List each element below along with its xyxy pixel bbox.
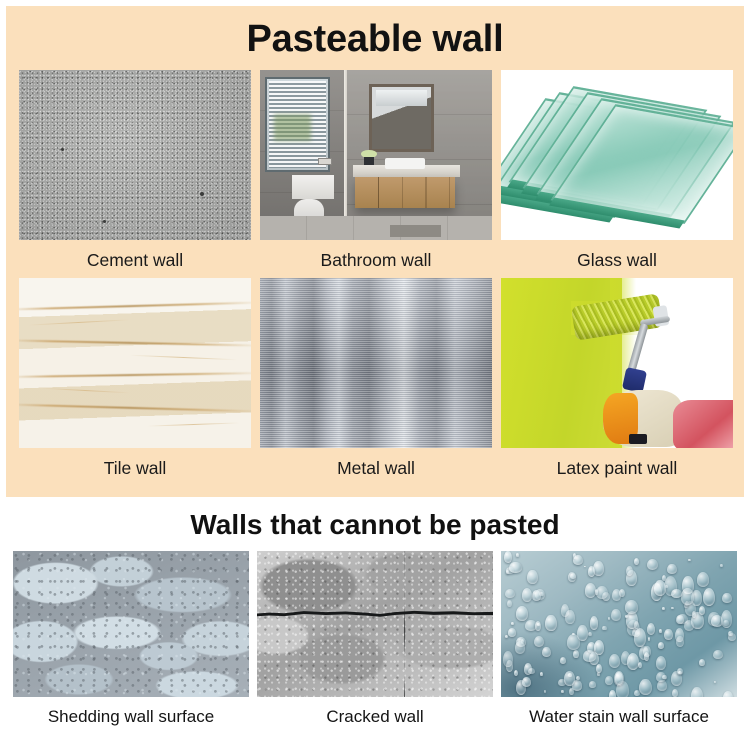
water-droplet-icon xyxy=(588,632,592,636)
water-stain-wall-label: Water stain wall surface xyxy=(529,697,709,725)
water-droplet-icon xyxy=(609,654,620,668)
not-pasteable-row: Shedding wall surface Cracked wall Water… xyxy=(13,551,737,725)
pasteable-item-tile-wall: Tile wall xyxy=(19,278,251,486)
marble-vein-small xyxy=(42,387,130,393)
product-infographic: Pasteable wall Cement wall xyxy=(0,0,750,750)
water-droplet-icon xyxy=(565,610,574,624)
water-droplet-icon xyxy=(625,600,638,613)
not-pasteable-section-title: Walls that cannot be pasted xyxy=(13,497,737,551)
water-droplet-icon xyxy=(676,636,683,647)
water-droplet-icon xyxy=(676,615,684,625)
water-droplet-icon xyxy=(662,675,667,680)
water-droplet-icon xyxy=(634,558,639,565)
water-droplet-icon xyxy=(611,609,620,621)
water-droplet-icon xyxy=(648,637,651,641)
water-droplet-icon xyxy=(511,622,514,625)
water-droplet-icon xyxy=(503,651,513,667)
water-droplet-icon xyxy=(671,589,682,598)
water-droplet-icon xyxy=(699,606,705,615)
bathroom-mat xyxy=(390,225,441,237)
water-droplet-icon xyxy=(697,572,710,587)
glass-wall-thumbnail xyxy=(501,70,733,240)
water-droplet-icon xyxy=(678,671,682,674)
bathroom-partition xyxy=(344,70,347,240)
water-droplet-icon xyxy=(602,626,607,631)
bathroom-wall-label: Bathroom wall xyxy=(321,240,432,278)
sleeve xyxy=(673,400,733,448)
water-droplet-icon xyxy=(504,551,512,563)
water-droplet-icon xyxy=(627,653,639,670)
water-droplet-icon xyxy=(634,628,646,647)
bathroom-sink-basin xyxy=(385,158,424,168)
pasteable-item-metal-wall: Metal wall xyxy=(260,278,492,486)
water-droplet-icon xyxy=(508,628,516,636)
cement-texture-image xyxy=(19,70,251,240)
water-droplet-icon xyxy=(590,616,599,630)
pasteable-item-bathroom-wall: Bathroom wall xyxy=(260,70,492,278)
water-droplet-icon xyxy=(505,635,508,638)
marble-vein-small xyxy=(28,319,130,325)
water-droplet-icon xyxy=(595,589,598,594)
plant-pot xyxy=(364,157,373,166)
water-droplet-icon xyxy=(514,670,518,676)
cement-fleck-icon xyxy=(103,220,106,223)
metal-wall-thumbnail xyxy=(260,278,492,448)
water-droplet-icon xyxy=(528,668,535,674)
water-droplet-icon xyxy=(654,580,666,596)
water-droplet-icon xyxy=(561,690,564,693)
water-droplet-icon xyxy=(720,564,723,567)
water-droplet-icon xyxy=(583,650,596,661)
tile-wall-thumbnail xyxy=(19,278,251,448)
water-droplet-icon xyxy=(516,606,528,620)
water-droplet-icon xyxy=(672,689,678,697)
toilet-tank xyxy=(292,175,334,199)
cracked-wall-label: Cracked wall xyxy=(326,697,423,725)
water-droplet-icon xyxy=(664,629,673,641)
water-droplet-icon xyxy=(615,672,623,685)
not-pasteable-item-shedding-wall: Shedding wall surface xyxy=(13,551,249,725)
light-switch-icon xyxy=(318,158,332,165)
water-droplet-icon xyxy=(596,586,608,599)
water-droplet-icon xyxy=(569,688,574,695)
cracked-wall-thumbnail xyxy=(257,551,493,697)
water-droplet-icon xyxy=(542,647,551,658)
bathroom-vanity-cabinet xyxy=(355,177,455,208)
water-droplet-icon xyxy=(532,590,542,601)
water-droplet-icon xyxy=(544,690,547,694)
water-droplet-icon xyxy=(722,593,731,603)
water-droplet-icon xyxy=(662,607,665,610)
water-droplet-icon xyxy=(589,681,596,688)
roller-label xyxy=(629,434,648,444)
water-stain-wall-thumbnail xyxy=(501,551,737,697)
water-droplet-icon xyxy=(505,589,515,598)
water-droplet-icon xyxy=(507,600,512,607)
shedding-wall-label: Shedding wall surface xyxy=(48,697,214,725)
pasteable-section-title: Pasteable wall xyxy=(19,6,731,70)
pasteable-item-glass-wall: Glass wall xyxy=(501,70,733,278)
bathroom-floor xyxy=(260,216,492,240)
pasteable-section: Pasteable wall Cement wall xyxy=(0,0,750,497)
pasteable-row-2: Tile wall Metal wall xyxy=(19,278,731,486)
latex-paint-wall-label: Latex paint wall xyxy=(557,448,678,486)
water-droplet-icon xyxy=(564,671,576,686)
water-droplet-icon xyxy=(612,589,621,601)
cement-fleck-icon xyxy=(61,148,64,151)
water-droplet-icon xyxy=(723,691,734,697)
cement-wall-label: Cement wall xyxy=(87,240,183,278)
water-droplet-icon xyxy=(699,659,705,666)
water-droplet-icon xyxy=(567,634,580,649)
marble-vein-small xyxy=(147,422,240,426)
water-droplet-icon xyxy=(688,559,690,562)
marble-vein xyxy=(19,403,251,412)
water-droplet-icon xyxy=(570,573,576,579)
water-droplet-icon xyxy=(576,676,580,680)
water-droplet-icon xyxy=(516,553,519,556)
bathroom-mirror xyxy=(369,84,434,152)
water-droplet-icon xyxy=(721,610,733,628)
not-pasteable-item-cracked-wall: Cracked wall xyxy=(257,551,493,725)
water-droplet-icon xyxy=(596,664,602,673)
water-droplet-icon xyxy=(703,588,715,606)
water-droplet-icon xyxy=(638,662,642,668)
water-droplet-icon xyxy=(584,566,586,568)
water-droplet-icon xyxy=(656,656,666,670)
water-droplet-icon xyxy=(684,620,694,631)
window-greenery xyxy=(274,114,311,141)
metal-wall-label: Metal wall xyxy=(337,448,415,486)
water-droplet-icon xyxy=(527,570,537,584)
water-droplet-icon xyxy=(713,650,723,659)
water-droplet-icon xyxy=(608,617,611,621)
glass-wall-label: Glass wall xyxy=(577,240,657,278)
water-droplet-icon xyxy=(728,631,732,636)
marble-vein-small xyxy=(130,355,237,360)
marble-vein xyxy=(19,339,251,346)
water-droplet-icon xyxy=(545,615,556,631)
latex-paint-wall-thumbnail xyxy=(501,278,733,448)
water-droplet-icon xyxy=(588,566,596,577)
water-droplet-icon xyxy=(714,681,716,683)
water-droplet-icon xyxy=(647,623,655,635)
water-droplet-icon xyxy=(671,607,674,610)
water-droplet-icon xyxy=(535,621,541,631)
pasteable-row-1: Cement wall xyxy=(19,70,731,278)
water-droplet-icon xyxy=(522,677,531,687)
water-droplet-icon xyxy=(647,559,658,570)
water-droplet-icon xyxy=(522,588,532,602)
not-pasteable-section: Walls that cannot be pasted Shedding wal… xyxy=(0,497,750,750)
water-droplet-icon xyxy=(509,562,521,574)
pasteable-item-latex-paint-wall: Latex paint wall xyxy=(501,278,733,486)
pasteable-item-cement-wall: Cement wall xyxy=(19,70,251,278)
cement-wall-thumbnail xyxy=(19,70,251,240)
water-droplet-icon xyxy=(605,676,613,686)
horizontal-crack xyxy=(257,609,493,617)
shedding-wall-thumbnail xyxy=(13,551,249,697)
bathroom-wall-thumbnail xyxy=(260,70,492,240)
water-droplet-icon xyxy=(639,679,652,696)
marble-vein xyxy=(19,372,251,378)
vertical-crack xyxy=(403,551,406,697)
water-droplet-icon xyxy=(658,642,664,649)
water-droplet-icon xyxy=(667,564,677,575)
water-droplet-icon xyxy=(681,588,693,604)
water-droplet-icon xyxy=(534,636,544,647)
marble-vein xyxy=(19,301,251,310)
water-droplet-icon xyxy=(573,555,583,566)
water-droplet-icon xyxy=(540,672,543,676)
not-pasteable-item-water-stain-wall: Water stain wall surface xyxy=(501,551,737,725)
water-droplet-icon xyxy=(691,687,703,697)
water-droplet-icon xyxy=(573,650,579,658)
water-droplet-icon xyxy=(659,629,662,633)
water-droplet-icon xyxy=(560,657,566,664)
water-droplet-icon xyxy=(644,652,650,661)
tile-wall-label: Tile wall xyxy=(104,448,167,486)
water-droplet-icon xyxy=(515,641,525,654)
